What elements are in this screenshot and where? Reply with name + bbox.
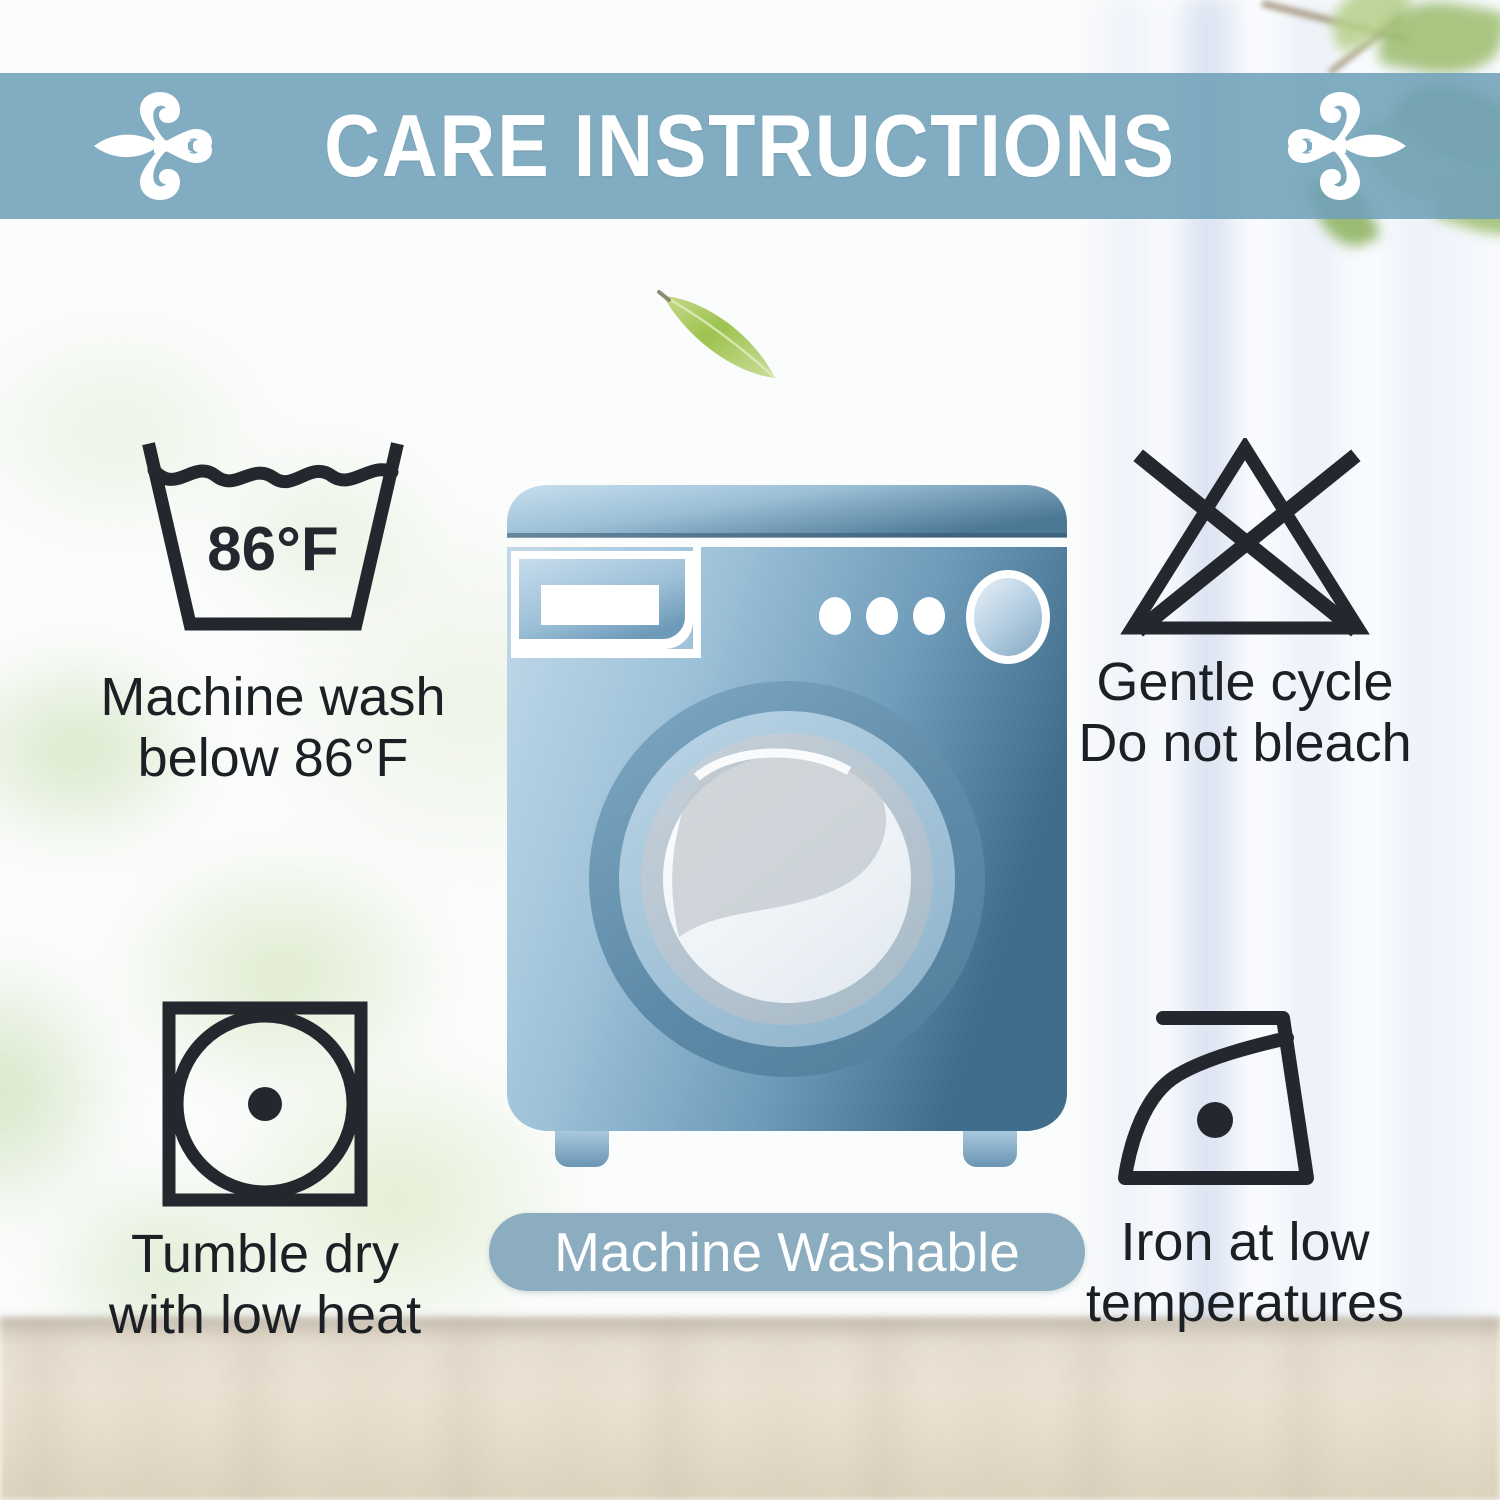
caption-line-1: Tumble dry bbox=[109, 1224, 421, 1285]
caption-line-2: below 86°F bbox=[100, 728, 445, 789]
badge-label: Machine Washable bbox=[554, 1225, 1020, 1280]
caption-do-not-bleach: Gentle cycle Do not bleach bbox=[1078, 652, 1411, 774]
caption-iron: Iron at low temperatures bbox=[1086, 1212, 1404, 1334]
washing-machine-illustration bbox=[497, 475, 1075, 1185]
caption-line-2: temperatures bbox=[1086, 1273, 1404, 1334]
detergent-drawer[interactable] bbox=[511, 551, 693, 649]
machine-washable-badge: Machine Washable bbox=[489, 1213, 1085, 1291]
care-symbol-machine-wash: 86°F Machine wash below 86°F bbox=[18, 438, 528, 789]
caption-tumble-dry: Tumble dry with low heat bbox=[109, 1224, 421, 1346]
foot-right bbox=[963, 1131, 1017, 1167]
caption-line-1: Gentle cycle bbox=[1078, 652, 1411, 713]
indicator-light-2 bbox=[866, 597, 898, 635]
caption-line-2: with low heat bbox=[109, 1285, 421, 1346]
foot-left bbox=[555, 1131, 609, 1167]
caption-line-1: Machine wash bbox=[100, 667, 445, 728]
drawer-underline bbox=[511, 649, 701, 658]
wash-tub-icon: 86°F bbox=[128, 438, 418, 653]
fleur-de-lis-icon-left bbox=[92, 91, 232, 201]
control-knob[interactable] bbox=[966, 570, 1050, 664]
panel-divider bbox=[693, 547, 701, 655]
machine-top-lid bbox=[507, 485, 1067, 538]
care-instructions-infographic: CARE INSTRUCTIONS bbox=[0, 0, 1500, 1500]
caption-line-2: Do not bleach bbox=[1078, 713, 1411, 774]
machine-feet bbox=[555, 1131, 1017, 1167]
caption-machine-wash: Machine wash below 86°F bbox=[100, 667, 445, 789]
floating-leaf-icon bbox=[655, 282, 810, 402]
tumble-dry-icon bbox=[159, 998, 371, 1210]
wash-temperature-label: 86°F bbox=[207, 515, 339, 584]
indicator-light-1 bbox=[819, 597, 851, 635]
fleur-de-lis-icon-right bbox=[1268, 91, 1408, 201]
page-title: CARE INSTRUCTIONS bbox=[324, 102, 1176, 190]
caption-line-1: Iron at low bbox=[1086, 1212, 1404, 1273]
drawer-slot bbox=[541, 585, 659, 625]
care-symbol-tumble-dry: Tumble dry with low heat bbox=[10, 998, 520, 1346]
indicator-light-3 bbox=[913, 597, 945, 635]
crossed-triangle-icon bbox=[1110, 438, 1380, 638]
indicator-lights bbox=[819, 597, 945, 635]
header-banner: CARE INSTRUCTIONS bbox=[0, 73, 1500, 219]
machine-door[interactable] bbox=[589, 681, 985, 1077]
iron-icon bbox=[1111, 998, 1379, 1198]
